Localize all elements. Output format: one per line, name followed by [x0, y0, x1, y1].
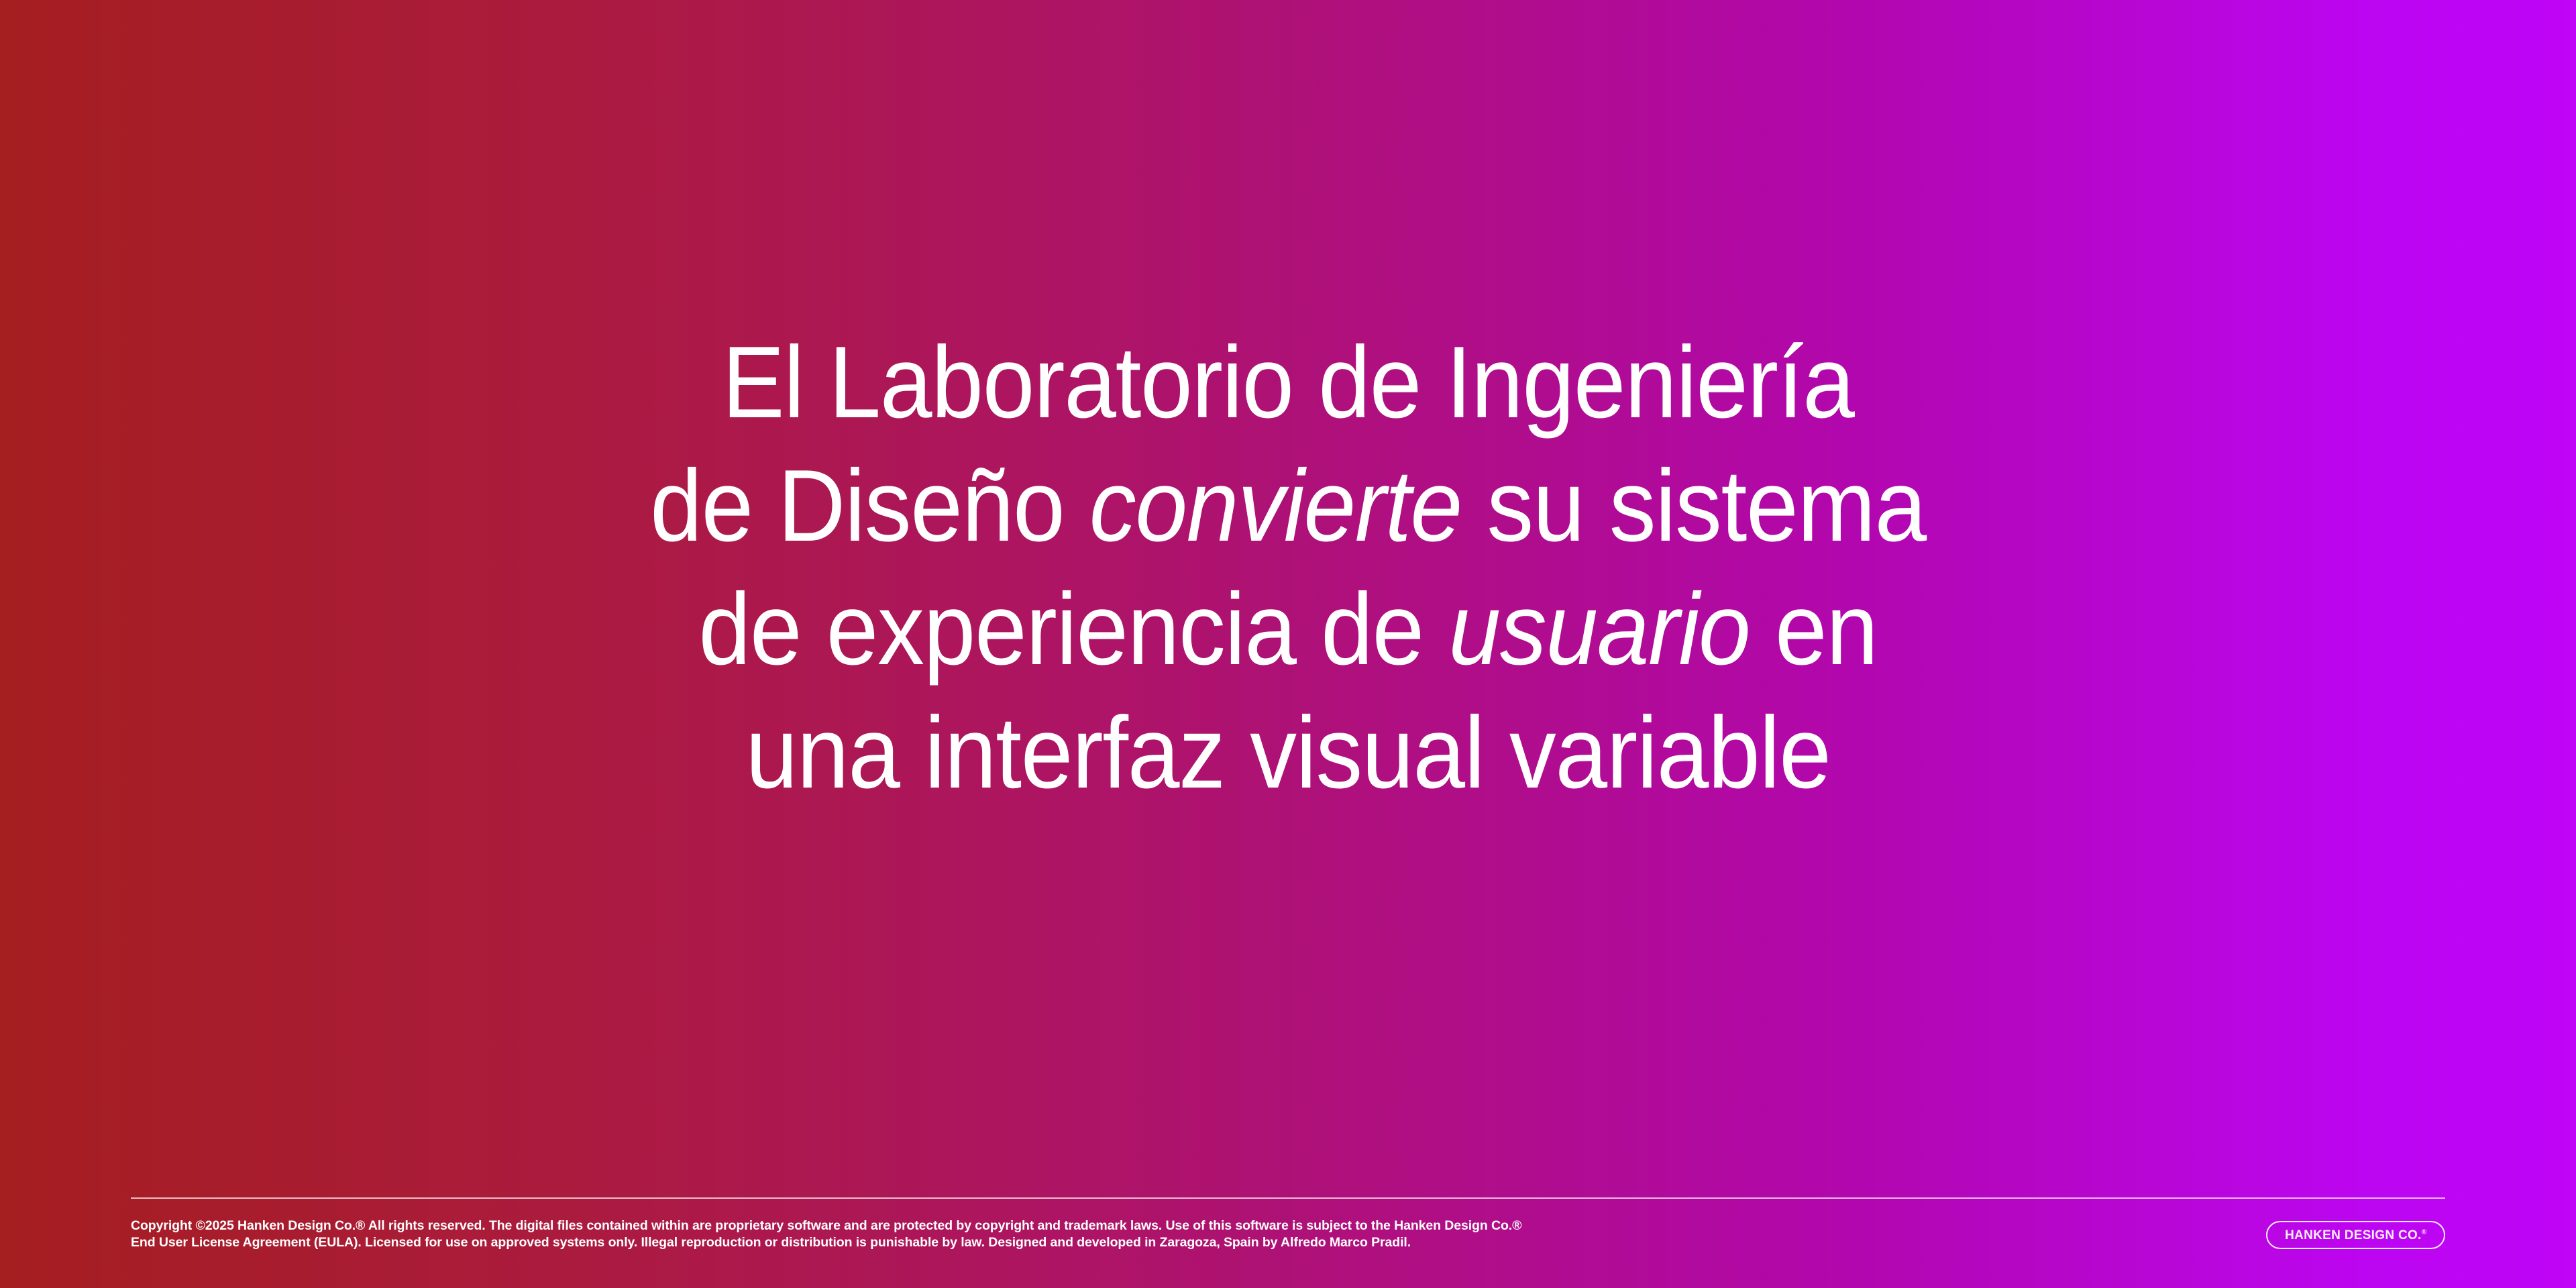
headline-line-3-pre: de experiencia de	[698, 572, 1448, 686]
headline-block: El Laboratorio de Ingeniería de Diseño c…	[0, 321, 2576, 814]
headline-line-2-post: su sistema	[1462, 449, 1926, 563]
headline-line-2-pre: de Diseño	[650, 449, 1089, 563]
footer-row: Copyright ©2025 Hanken Design Co.® All r…	[131, 1218, 2445, 1250]
headline-line-3: de experiencia de usuario en	[214, 568, 2362, 691]
headline-line-3-post: en	[1750, 572, 1877, 686]
headline-line-4: una interfaz visual variable	[214, 691, 2362, 814]
logo-badge-wordmark: HANKEN DESIGN CO.	[2285, 1228, 2422, 1242]
legal-line-1: Copyright ©2025 Hanken Design Co.® All r…	[131, 1218, 1521, 1234]
hanken-design-co-logo-badge[interactable]: HANKEN DESIGN CO.®	[2266, 1221, 2445, 1249]
headline-line-1: El Laboratorio de Ingeniería	[214, 321, 2362, 444]
logo-badge-label: HANKEN DESIGN CO.®	[2285, 1229, 2426, 1242]
poster-canvas: El Laboratorio de Ingeniería de Diseño c…	[0, 0, 2576, 1288]
headline-emphasis-convierte: convierte	[1089, 449, 1462, 563]
legal-line-2: End User License Agreement (EULA). Licen…	[131, 1234, 1521, 1251]
legal-copyright-text: Copyright ©2025 Hanken Design Co.® All r…	[131, 1218, 1521, 1250]
registered-trademark-icon: ®	[2422, 1228, 2426, 1236]
footer: Copyright ©2025 Hanken Design Co.® All r…	[131, 1197, 2445, 1250]
headline-line-2: de Diseño convierte su sistema	[214, 444, 2362, 568]
headline-emphasis-usuario: usuario	[1448, 572, 1750, 686]
footer-divider	[131, 1197, 2445, 1199]
